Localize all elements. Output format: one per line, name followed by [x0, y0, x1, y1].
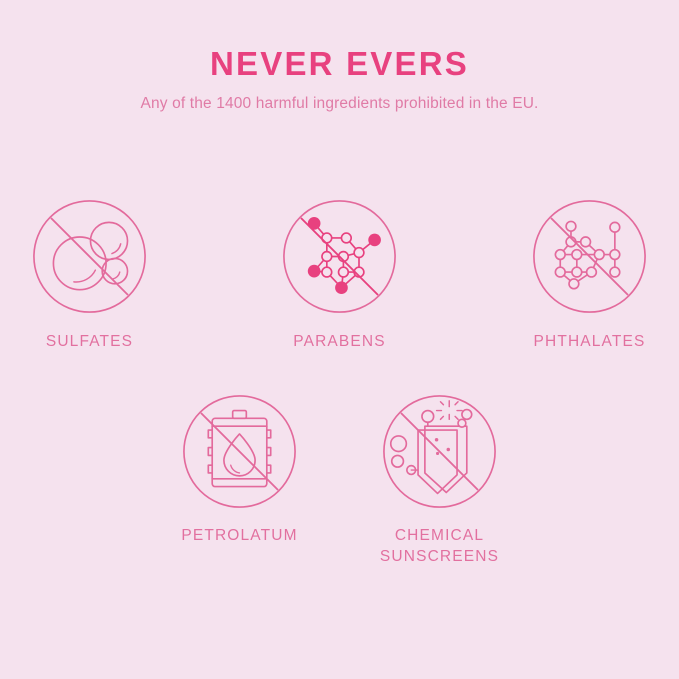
icon-row-top: SULFATES: [0, 198, 679, 352]
oil-barrel-prohibited-icon: [181, 393, 298, 510]
icon-row-bottom: PETROLATUM: [0, 393, 679, 567]
sunscreen-bottle-prohibited-icon: [381, 393, 498, 510]
item-chemical-sunscreens: CHEMICAL SUNSCREENS: [375, 393, 505, 567]
page-title: NEVER EVERS: [0, 44, 679, 84]
bubbles-prohibited-icon: [31, 198, 148, 315]
item-label-sulfates: SULFATES: [46, 331, 133, 352]
item-label-parabens: PARABENS: [293, 331, 385, 352]
item-label-chemical-sunscreens: CHEMICAL SUNSCREENS: [380, 525, 499, 567]
molecule-filled-prohibited-icon: [281, 198, 398, 315]
item-label-phthalates: PHTHALATES: [534, 331, 646, 352]
header: NEVER EVERS Any of the 1400 harmful ingr…: [0, 44, 679, 115]
item-label-petrolatum: PETROLATUM: [181, 525, 297, 546]
never-evers-infographic: NEVER EVERS Any of the 1400 harmful ingr…: [0, 0, 679, 679]
molecule-outline-prohibited-icon: [531, 198, 648, 315]
item-petrolatum: PETROLATUM: [175, 393, 305, 567]
page-subtitle: Any of the 1400 harmful ingredients proh…: [0, 93, 679, 115]
item-sulfates: SULFATES: [0, 198, 179, 352]
item-phthalates: PHTHALATES: [500, 198, 679, 352]
item-parabens: PARABENS: [250, 198, 429, 352]
